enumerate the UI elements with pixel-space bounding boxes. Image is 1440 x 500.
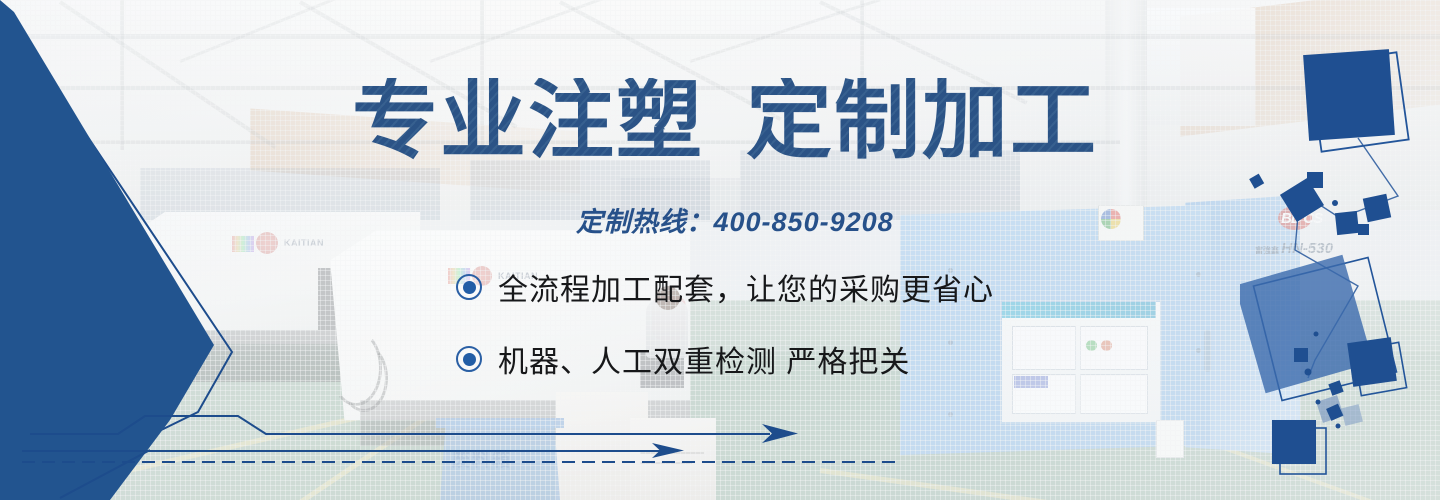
dot-bottom-b: [1336, 424, 1341, 429]
dot-inner: [1314, 332, 1319, 337]
dot-large: [1305, 369, 1312, 376]
square-solid-large-dot: [1294, 348, 1308, 362]
square-faded-b: [1341, 404, 1363, 426]
square-solid-mid-f: [1249, 174, 1264, 189]
hotline-label: 定制热线：: [576, 207, 714, 237]
list-item: 全流程加工配套，让您的采购更省心: [456, 265, 994, 309]
dot-bottom-a: [1316, 400, 1321, 405]
headline-part-1: 专业注塑: [352, 73, 704, 169]
square-solid-right: [1347, 337, 1397, 387]
radio-dot-icon: [456, 346, 482, 372]
right-squares-decor: [1240, 0, 1440, 500]
square-solid-bottom: [1272, 420, 1316, 464]
radio-dot-icon: [456, 274, 482, 300]
square-solid-mid-d: [1335, 211, 1359, 235]
list-item: 机器、人工双重检测 严格把关: [456, 337, 994, 381]
page-title: 专业注塑定制加工: [352, 78, 1098, 164]
headline-part-2: 定制加工: [746, 73, 1098, 169]
square-solid-mid-c: [1363, 194, 1391, 222]
wedge-tail-line: [60, 450, 150, 498]
hotline-number: 400-850-9208: [714, 207, 894, 237]
list-item-label: 机器、人工双重检测 严格把关: [498, 337, 910, 381]
dot-mid: [1332, 200, 1338, 206]
feature-list: 全流程加工配套，让您的采购更省心 机器、人工双重检测 严格把关: [456, 265, 994, 409]
promo-banner: KAITIAN KAITIAN 废料箱: [0, 0, 1440, 500]
list-item-label: 全流程加工配套，让您的采购更省心: [498, 265, 994, 309]
square-solid-mid-e: [1358, 224, 1369, 235]
hotline: 定制热线：400-850-9208: [576, 200, 894, 239]
square-solid-top: [1303, 49, 1395, 141]
square-solid-mid-b: [1307, 172, 1323, 188]
square-solid-bottom-a: [1328, 380, 1343, 395]
stepped-line: [30, 416, 770, 434]
